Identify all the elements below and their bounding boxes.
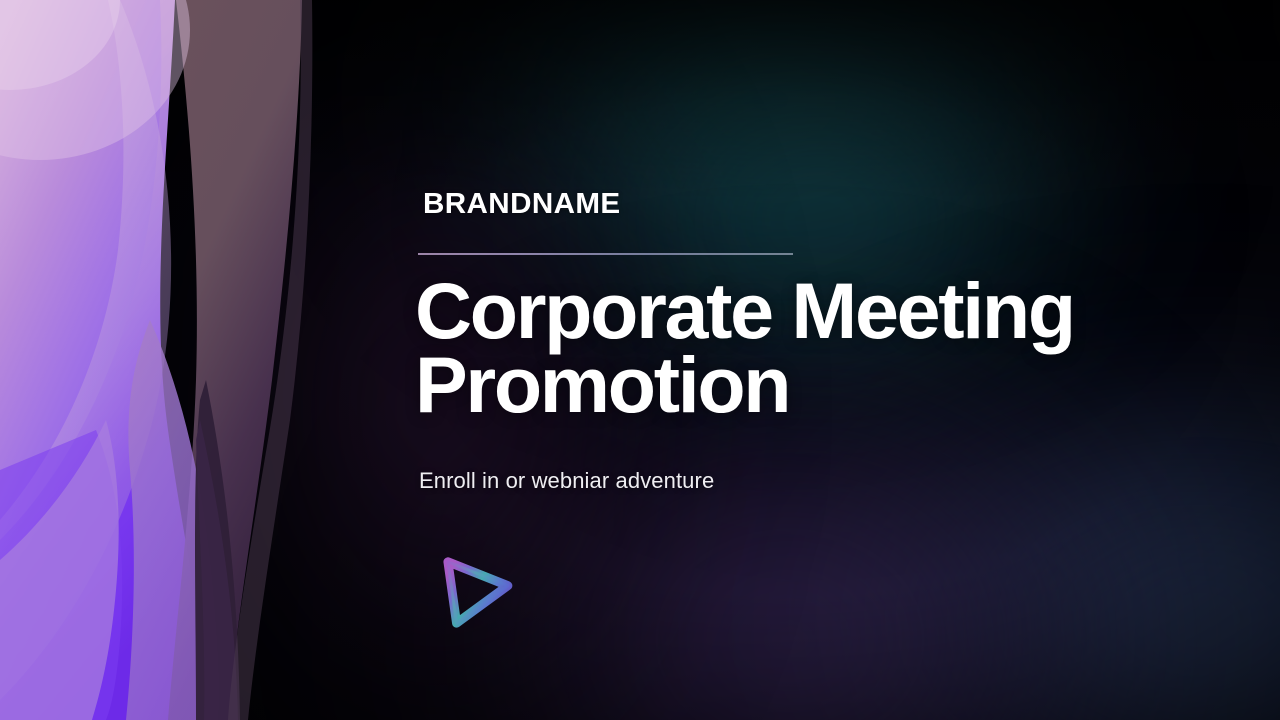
promo-slide: BRANDNAME Corporate Meeting Promotion En… xyxy=(0,0,1280,720)
brand-name: BRANDNAME xyxy=(423,190,621,219)
content-block: BRANDNAME Corporate Meeting Promotion En… xyxy=(418,0,1208,720)
divider-rule xyxy=(418,253,793,255)
play-triangle-icon[interactable] xyxy=(434,546,520,632)
page-title: Corporate Meeting Promotion xyxy=(415,274,1205,423)
decorative-ribbon-artwork xyxy=(0,0,330,720)
subtitle-text: Enroll in or webniar adventure xyxy=(419,468,714,494)
headline-line-1: Corporate Meeting xyxy=(415,274,1205,348)
headline-line-2: Promotion xyxy=(415,348,1205,422)
